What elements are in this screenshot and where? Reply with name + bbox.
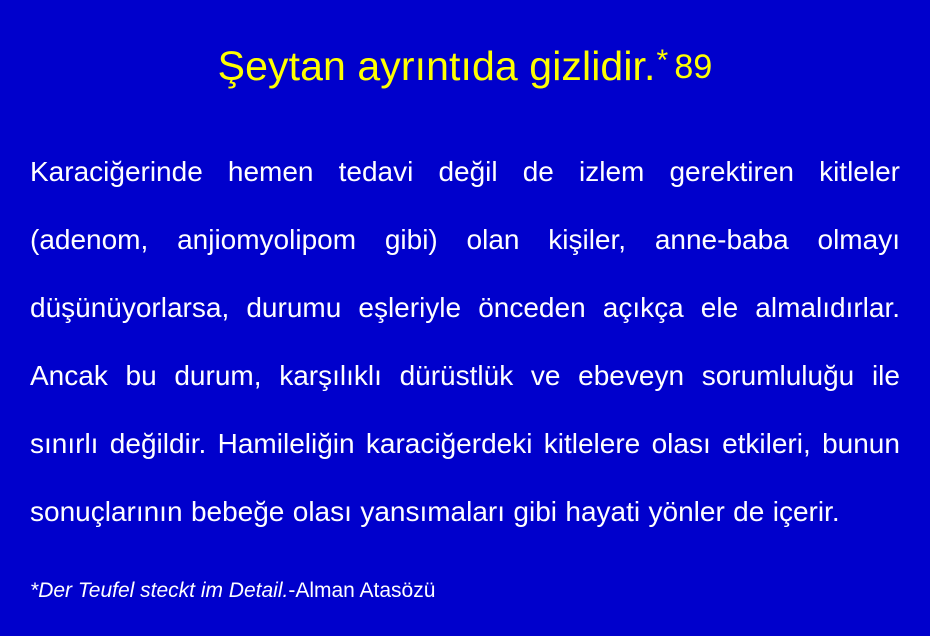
page-title-text: Şeytan ayrıntıda gizlidir.	[218, 43, 656, 89]
body-word: kitlelere	[544, 410, 640, 478]
body-word: sorumluluğu	[702, 342, 855, 410]
body-word: yansımaları	[360, 478, 505, 546]
body-word: Ancak	[30, 342, 108, 410]
body-word: ele	[701, 274, 738, 342]
body-word: anjiomyolipom	[177, 206, 356, 274]
title-footnote-marker: *	[657, 44, 669, 77]
footnote-attribution: -Alman Atasözü	[288, 579, 435, 602]
body-word: ile	[872, 342, 900, 410]
body-word: Karaciğerinde	[30, 138, 203, 206]
body-word: sınırlı	[30, 410, 98, 478]
body-word: içerir.	[773, 478, 840, 546]
footnote: *Der Teufel steckt im Detail.-Alman Atas…	[30, 578, 435, 603]
body-word: karaciğerdeki	[366, 410, 533, 478]
body-word: düşünüyorlarsa,	[30, 274, 229, 342]
body-word: hemen	[228, 138, 314, 206]
slide-canvas: Şeytan ayrıntıda gizlidir.*89 Karaciğeri…	[0, 0, 930, 636]
body-word: sonuçlarının	[30, 478, 183, 546]
body-word: kitleler	[819, 138, 900, 206]
body-word: bunun	[822, 410, 900, 478]
body-word: etkileri,	[722, 410, 811, 478]
body-word: Hamileliğin	[218, 410, 355, 478]
page-title: Şeytan ayrıntıda gizlidir.*89	[0, 44, 930, 89]
body-word: bu	[126, 342, 157, 410]
body-line: düşünüyorlarsa,durumueşleriyleöncedenaçı…	[30, 274, 900, 342]
body-word: de	[733, 478, 764, 546]
body-word: yönler	[649, 478, 725, 546]
body-word: karşılıklı	[279, 342, 382, 410]
body-word: önceden	[478, 274, 585, 342]
body-paragraph: Karaciğerindehementedavideğildeizlemgere…	[30, 138, 900, 546]
body-word: olmayı	[818, 206, 900, 274]
body-word: durumu	[246, 274, 341, 342]
body-word: durum,	[174, 342, 261, 410]
body-word: (adenom,	[30, 206, 148, 274]
body-word: hayati	[565, 478, 640, 546]
body-line: sonuçlarınınbebeğeolasıyansımalarıgibiha…	[30, 478, 900, 546]
body-line: Karaciğerindehementedavideğildeizlemgere…	[30, 138, 900, 206]
footnote-marker: *	[30, 579, 38, 602]
body-word: tedavi	[339, 138, 414, 206]
body-word: almalıdırlar.	[755, 274, 900, 342]
body-line: (adenom,anjiomyolipomgibi)olankişiler,an…	[30, 206, 900, 274]
body-word: dürüstlük	[400, 342, 514, 410]
body-line: Ancakbudurum,karşılıklıdürüstlükveebevey…	[30, 342, 900, 410]
body-word: eşleriyle	[358, 274, 461, 342]
body-word: olası	[293, 478, 352, 546]
body-word: kişiler,	[548, 206, 626, 274]
body-word: gibi)	[385, 206, 438, 274]
body-word: ebeveyn	[578, 342, 684, 410]
body-word: bebeğe	[191, 478, 284, 546]
body-word: ve	[531, 342, 561, 410]
body-word: olası	[652, 410, 711, 478]
body-line: sınırlıdeğildir.Hamileliğinkaraciğerdeki…	[30, 410, 900, 478]
body-word: olan	[467, 206, 520, 274]
body-word: açıkça	[603, 274, 684, 342]
body-word: de	[523, 138, 554, 206]
body-word: gibi	[513, 478, 557, 546]
body-word: değildir.	[110, 410, 207, 478]
body-word: anne-baba	[655, 206, 789, 274]
body-word: izlem	[579, 138, 644, 206]
body-word: gerektiren	[669, 138, 794, 206]
page-number: 89	[674, 48, 712, 86]
footnote-proverb-original: Der Teufel steckt im Detail.	[38, 579, 288, 602]
body-word: değil	[438, 138, 497, 206]
